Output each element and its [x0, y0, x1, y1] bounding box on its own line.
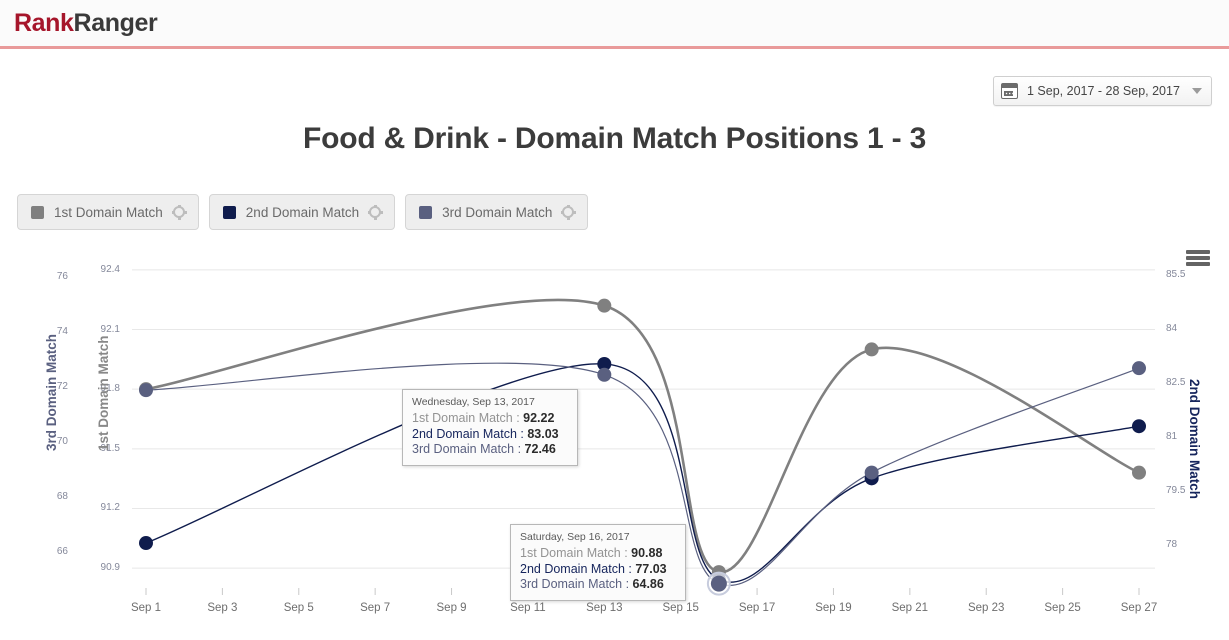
logo-ranger-text: Ranger: [74, 9, 158, 37]
gear-icon[interactable]: [173, 206, 185, 218]
data-point-marker[interactable]: [711, 576, 727, 592]
x-axis-tick-label: Sep 27: [1104, 602, 1174, 614]
x-axis-tick-label: Sep 21: [875, 602, 945, 614]
logo-rank-text: Rank: [14, 9, 74, 37]
chart-tooltip-sep-16: Saturday, Sep 16, 2017 1st Domain Match …: [510, 524, 686, 601]
hamburger-menu-icon[interactable]: [1186, 250, 1210, 266]
tooltip-row-1st: 1st Domain Match : 90.88: [520, 546, 676, 562]
x-axis-tick-label: Sep 9: [417, 602, 487, 614]
x-axis-tick-label: Sep 3: [187, 602, 257, 614]
legend-swatch-2nd: [223, 206, 236, 219]
legend-label-2nd: 2nd Domain Match: [246, 205, 359, 220]
data-point-marker[interactable]: [139, 383, 153, 397]
y-axis-title-3rd: 3rd Domain Match: [44, 334, 59, 451]
tooltip-row-1st: 1st Domain Match : 92.22: [412, 411, 568, 427]
axis-tick-label: 92.1: [92, 324, 120, 335]
x-axis-tick-label: Sep 17: [722, 602, 792, 614]
gear-icon[interactable]: [369, 206, 381, 218]
axis-tick-label: 81: [1166, 431, 1177, 442]
axis-tick-label: 91.2: [92, 502, 120, 513]
data-point-marker[interactable]: [139, 536, 153, 550]
x-axis-tick-label: Sep 25: [1028, 602, 1098, 614]
axis-tick-label: 82.5: [1166, 377, 1185, 388]
axis-tick-label: 76: [40, 271, 68, 282]
chevron-down-icon[interactable]: [1192, 88, 1202, 94]
legend-label-1st: 1st Domain Match: [54, 205, 163, 220]
app-header: RankRanger: [0, 0, 1229, 49]
legend-label-3rd: 3rd Domain Match: [442, 205, 552, 220]
tooltip-row-2nd: 2nd Domain Match : 77.03: [520, 562, 676, 578]
y-axis-title-1st: 1st Domain Match: [96, 335, 111, 451]
data-point-marker[interactable]: [597, 368, 611, 382]
axis-tick-label: 90.9: [92, 562, 120, 573]
axis-tick-label: 85.5: [1166, 269, 1185, 280]
page-title: Food & Drink - Domain Match Positions 1 …: [0, 122, 1229, 156]
data-point-marker[interactable]: [865, 342, 879, 356]
legend-item-2nd-domain-match[interactable]: 2nd Domain Match: [209, 194, 395, 230]
data-point-marker[interactable]: [1132, 361, 1146, 375]
gear-icon[interactable]: [562, 206, 574, 218]
legend-item-1st-domain-match[interactable]: 1st Domain Match: [17, 194, 199, 230]
x-axis-tick-label: Sep 19: [798, 602, 868, 614]
data-point-marker[interactable]: [597, 299, 611, 313]
tooltip-row-3rd: 3rd Domain Match : 72.46: [412, 442, 568, 458]
tooltip-row-3rd: 3rd Domain Match : 64.86: [520, 577, 676, 593]
axis-tick-label: 79.5: [1166, 485, 1185, 496]
calendar-icon: [1001, 83, 1018, 99]
date-range-picker[interactable]: 1 Sep, 2017 - 28 Sep, 2017: [993, 76, 1212, 106]
tooltip-date: Wednesday, Sep 13, 2017: [412, 396, 568, 408]
data-point-marker[interactable]: [1132, 419, 1146, 433]
chart-tooltip-sep-13: Wednesday, Sep 13, 2017 1st Domain Match…: [402, 389, 578, 466]
axis-tick-label: 84: [1166, 323, 1177, 334]
x-axis-tick-label: Sep 11: [493, 602, 563, 614]
date-range-value: 1 Sep, 2017 - 28 Sep, 2017: [1027, 84, 1192, 98]
legend: 1st Domain Match 2nd Domain Match 3rd Do…: [17, 194, 588, 230]
rankranger-logo[interactable]: RankRanger: [14, 9, 157, 38]
data-point-marker[interactable]: [865, 466, 879, 480]
legend-swatch-1st: [31, 206, 44, 219]
x-axis-tick-label: Sep 5: [264, 602, 334, 614]
y-axis-title-2nd: 2nd Domain Match: [1187, 379, 1202, 499]
tooltip-date: Saturday, Sep 16, 2017: [520, 531, 676, 543]
x-axis-tick-label: Sep 13: [569, 602, 639, 614]
x-axis-tick-label: Sep 23: [951, 602, 1021, 614]
data-point-marker[interactable]: [1132, 466, 1146, 480]
axis-tick-label: 92.4: [92, 264, 120, 275]
page-root: RankRanger 1 Sep, 2017 - 28 Sep, 2017 Fo…: [0, 0, 1229, 640]
x-axis-tick-label: Sep 7: [340, 602, 410, 614]
x-axis-tick-label: Sep 15: [646, 602, 716, 614]
x-axis-tick-label: Sep 1: [111, 602, 181, 614]
legend-swatch-3rd: [419, 206, 432, 219]
legend-item-3rd-domain-match[interactable]: 3rd Domain Match: [405, 194, 588, 230]
tooltip-row-2nd: 2nd Domain Match : 83.03: [412, 427, 568, 443]
axis-tick-label: 66: [40, 546, 68, 557]
axis-tick-label: 68: [40, 491, 68, 502]
axis-tick-label: 78: [1166, 539, 1177, 550]
